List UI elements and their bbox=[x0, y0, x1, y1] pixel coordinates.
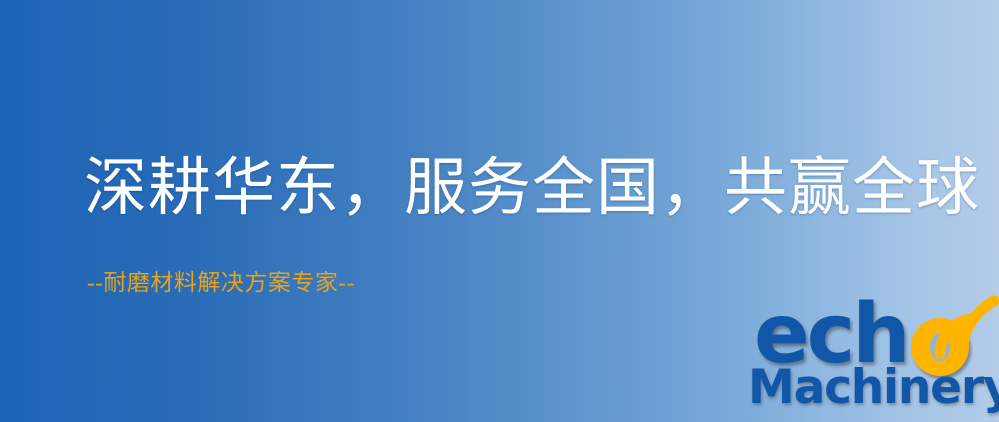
banner-subtitle: --耐磨材料解决方案专家-- bbox=[87, 268, 355, 298]
banner-headline: 深耕华东，服务全国，共赢全球 bbox=[84, 152, 980, 224]
hero-banner: 深耕华东，服务全国，共赢全球 --耐磨材料解决方案专家-- ech Machin… bbox=[0, 0, 999, 422]
echo-signal-waves-icon bbox=[926, 293, 999, 359]
logo-tagline-text: Machinery bbox=[748, 360, 999, 415]
logo-tagline: Machinery® bbox=[748, 362, 999, 418]
company-logo[interactable]: ech Machinery® bbox=[748, 296, 999, 422]
